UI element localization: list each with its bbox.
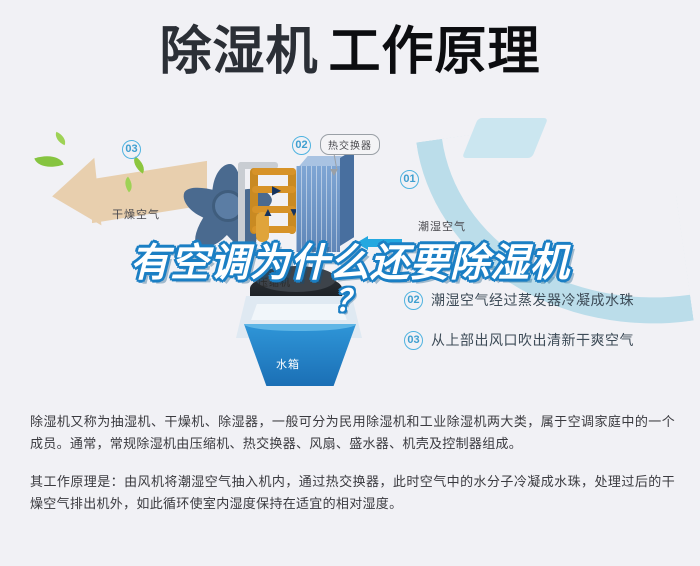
step-item-03: 03 从上部出风口吹出清新干爽空气 — [404, 330, 694, 350]
intake-arrow-icon — [356, 236, 402, 250]
heat-exchanger-callout: 热交换器 — [320, 134, 380, 155]
step-badge-03: 03 — [404, 331, 423, 350]
water-tank-label: 水箱 — [276, 356, 300, 372]
step-item-02: 02 潮湿空气经过蒸发器冷凝成水珠 — [404, 290, 694, 310]
dry-air-label: 干燥空气 — [112, 206, 160, 222]
step-text-02: 潮湿空气经过蒸发器冷凝成水珠 — [431, 290, 634, 310]
flow-arrow-right-icon: ▶ — [272, 184, 281, 196]
moist-air-label: 潮湿空气 — [418, 218, 466, 234]
page-title: 除湿机工作原理 — [0, 26, 700, 78]
water-tank — [244, 324, 356, 386]
step-list: 01 潮湿空气被吸入机内 02 潮湿空气经过蒸发器冷凝成水珠 03 从上部出风口… — [404, 250, 694, 370]
diagram-marker-01: 01 — [400, 170, 419, 189]
infographic-page: 除湿机工作原理 干燥空气 — [0, 0, 700, 566]
step-badge-02: 02 — [404, 291, 423, 310]
compressor-label: 压缩机 — [258, 274, 291, 289]
diagram-marker-03: 03 — [122, 140, 141, 159]
body-paragraph-2: 其工作原理是：由风机将潮湿空气抽入机内，通过热交换器，此时空气中的水分子冷凝成水… — [30, 472, 675, 516]
step-text-03: 从上部出风口吹出清新干爽空气 — [431, 330, 634, 350]
step-text-01: 潮湿空气被吸入机内 — [431, 250, 562, 270]
flow-arrow-up-icon: ▲ — [262, 206, 274, 218]
body-paragraph-1: 除湿机又称为抽湿机、干燥机、除湿器，一般可分为民用除湿机和工业除湿机两大类，属于… — [30, 412, 675, 456]
page-title-part2: 工作原理 — [329, 22, 541, 82]
leaf-icon — [53, 132, 69, 146]
step-badge-01: 01 — [404, 251, 423, 270]
diagram-marker-02: 02 — [292, 136, 311, 155]
page-title-part1: 除湿机 — [159, 22, 318, 82]
body-copy: 除湿机又称为抽湿机、干燥机、除湿器，一般可分为民用除湿机和工业除湿机两大类，属于… — [30, 412, 675, 532]
heat-exchanger-block — [296, 156, 356, 252]
heat-exchanger-callout-label: 热交换器 — [328, 141, 372, 152]
